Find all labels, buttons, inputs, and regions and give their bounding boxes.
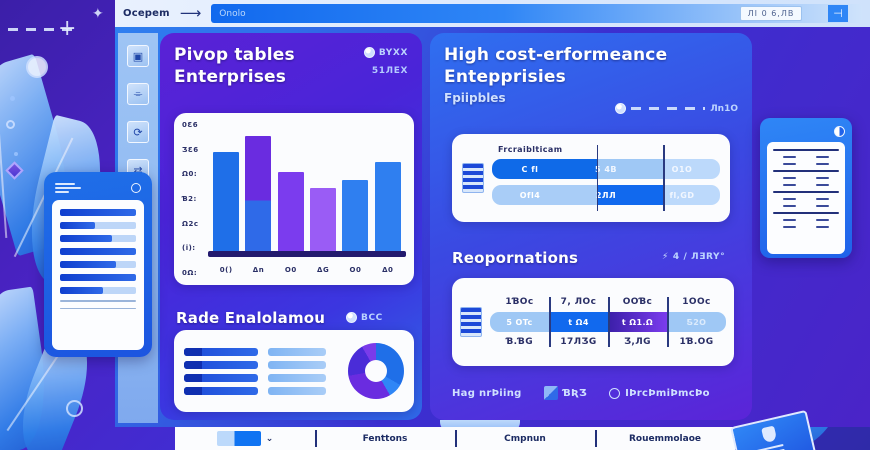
dashboard-illustration: + ✦ ✦ ✦ Ocepem ⟶ Onolo ЛI 0 6,ЛB ⊣ ▣ ⌯ ⟳… — [0, 0, 870, 450]
thumbnail-icon — [217, 431, 261, 446]
bar-chart-card: 0Ɛ6 ƷƐ6 Ω0: Ɓ2: Ω2c (i): 0Ω: 0()ΔnO0ΔGO0… — [174, 113, 414, 285]
x-tick: O0 — [342, 266, 368, 274]
enablement-list-right — [268, 348, 326, 395]
table-cell: 1Ɓ.OG — [667, 337, 726, 347]
tab-recommendations[interactable]: Rouemmolaoe — [595, 427, 735, 450]
reports-title: Reopornations — [452, 249, 578, 267]
panel-right-link-label: Лn1O — [710, 104, 738, 114]
side-table-row — [773, 156, 839, 158]
panel-right-link[interactable]: Лn1O — [615, 103, 738, 114]
y-tick: 0Ω: — [182, 269, 208, 277]
side-table-rule — [773, 212, 839, 214]
table-divider — [667, 297, 669, 347]
reports-badge: ⚡ 4 / ЛƎRY° — [662, 252, 725, 262]
table-divider — [597, 145, 599, 211]
reports-badge-label: 4 / ЛƎRY° — [673, 252, 725, 262]
enablement-badge: BCC — [346, 312, 383, 323]
list-item — [184, 387, 258, 395]
list-item — [184, 348, 258, 356]
bolt-icon: ⚡ — [662, 252, 669, 262]
y-tick: (i): — [182, 244, 208, 252]
side-table-rule — [773, 191, 839, 193]
table-header-cell: 1ƁOc — [490, 297, 549, 307]
document-row — [60, 261, 136, 268]
reports-table: 1ƁOc 7, ЛOc OOƁc 1OOc 5 OTc t Ω4 t Ω1.Ω … — [490, 297, 726, 347]
y-tick: ƷƐ6 — [182, 146, 208, 154]
tab-campaign[interactable]: Cmpnun — [455, 427, 595, 450]
table-cell: t Ω4 — [549, 312, 608, 332]
x-tick: ΔG — [310, 266, 336, 274]
circle-outline-icon — [609, 388, 620, 399]
circle-avatar-icon — [364, 47, 375, 58]
enablement-list-left — [184, 348, 258, 395]
footer-cube-label: ƁƦƷ — [563, 388, 587, 399]
x-axis-line — [208, 251, 406, 257]
table-icon — [462, 163, 484, 193]
x-tick: O0 — [278, 266, 304, 274]
table-cell: 17ЛƷG — [549, 337, 608, 347]
list-item — [184, 361, 258, 369]
badge-primary: BYXX — [379, 48, 408, 58]
bar-chart-bar — [278, 172, 304, 253]
x-axis-labels: 0()ΔnO0ΔGO0Δ0 — [210, 263, 404, 277]
bar-chart-bar — [213, 152, 239, 253]
table-header-cell: 1OOc — [667, 297, 726, 307]
capabilities-table-card: Frcraiblticam C fl 5 4B O1O Ofl4 2ЛЛ fl,… — [452, 134, 730, 222]
table-divider — [549, 297, 551, 347]
url-value: Onolo — [219, 9, 245, 19]
enablement-title: Rade Enalolamou — [176, 309, 325, 327]
list-item — [268, 361, 326, 369]
image-tile-icon[interactable]: ▣ — [127, 45, 149, 67]
table-cell: Ɓ.ƁG — [490, 337, 549, 347]
side-table-row — [773, 205, 839, 207]
side-table-row — [773, 184, 839, 186]
side-table-rule — [773, 170, 839, 172]
url-input[interactable]: Onolo ЛI 0 6,ЛB ⊣ — [211, 4, 862, 23]
table-icon — [460, 307, 482, 337]
document-row — [60, 248, 136, 255]
side-table-card[interactable] — [760, 118, 852, 258]
table-header-cell: 7, ЛOc — [549, 297, 608, 307]
y-tick: Ω0: — [182, 170, 208, 178]
table-cell: Ƽ2O — [667, 312, 726, 332]
side-table-row — [773, 198, 839, 200]
tab-features[interactable]: Fenttons — [315, 427, 455, 450]
document-rule — [60, 300, 136, 302]
panel-right-footer: Hag nrÞiing ƁƦƷ IÞrcÞmiÞmcÞo — [452, 386, 742, 400]
table-row[interactable]: Ofl4 2ЛЛ fl,GD — [492, 185, 720, 205]
badge-secondary: 51ЛEX — [372, 66, 408, 76]
footer-label: Hag nrÞiing — [452, 388, 522, 399]
side-table-sheet — [767, 142, 845, 254]
document-card[interactable] — [44, 172, 152, 357]
bar-chart-plot — [210, 123, 404, 253]
envelope-lines — [744, 444, 786, 450]
x-tick: Δn — [245, 266, 271, 274]
side-table-row — [773, 163, 839, 165]
toolbar-end-button[interactable]: ⊣ — [828, 5, 848, 22]
x-tick: Δ0 — [375, 266, 401, 274]
half-circle-icon — [834, 126, 845, 137]
table-divider — [608, 297, 610, 347]
panel-right-title-1: High cost-erformeance — [444, 45, 738, 67]
shield-icon — [761, 426, 777, 444]
table-cell: O1O — [644, 165, 720, 174]
table-cell: Ʒ,ЛG — [608, 337, 667, 347]
side-table-row — [773, 226, 839, 228]
y-tick: Ω2c — [182, 220, 208, 228]
refresh-icon[interactable]: ⟳ — [127, 121, 149, 143]
table-cell: 5 OTc — [490, 312, 549, 332]
bottom-tab-bar: ⌄ Fenttons Cmpnun Rouemmolaoe — [175, 427, 735, 450]
reports-header: Reopornations — [452, 248, 578, 268]
side-table-row — [773, 177, 839, 179]
menu-lines-icon[interactable] — [55, 183, 81, 193]
enablement-card — [174, 330, 414, 412]
bar-chart-bar — [310, 188, 336, 253]
list-item — [268, 387, 326, 395]
chevron-down-icon[interactable]: ⌄ — [266, 434, 274, 444]
side-table-rule — [773, 149, 839, 151]
filter-funnel-icon[interactable]: ⌯ — [127, 83, 149, 105]
browser-toolbar: Ocepem ⟶ Onolo ЛI 0 6,ЛB ⊣ — [115, 0, 870, 27]
headphone-icon — [615, 103, 626, 114]
list-item — [268, 348, 326, 356]
reports-table-card: 1ƁOc 7, ЛOc OOƁc 1OOc 5 OTc t Ω4 t Ω1.Ω … — [452, 278, 734, 366]
bar-chart-bar — [245, 136, 271, 253]
list-item — [268, 374, 326, 382]
table-cell: t Ω1.Ω — [608, 312, 667, 332]
table-row[interactable]: C fl 5 4B O1O — [492, 159, 720, 179]
y-tick: Ɓ2: — [182, 195, 208, 203]
bar-chart-bar — [375, 162, 401, 253]
tab-thumbnail[interactable]: ⌄ — [175, 427, 315, 450]
bar-chart-bar — [342, 180, 368, 253]
footer-cube-item[interactable]: ƁƦƷ — [544, 386, 587, 400]
document-sheet — [52, 200, 144, 350]
side-card-header — [767, 125, 845, 138]
document-row — [60, 274, 136, 281]
table-divider — [663, 145, 665, 211]
table-cell: Ofl4 — [492, 191, 568, 200]
url-chip: ЛI 0 6,ЛB — [740, 6, 802, 21]
document-row — [60, 209, 136, 216]
circle-outline-icon — [131, 183, 141, 193]
list-item — [184, 374, 258, 382]
footer-circle-label: IÞrcÞmiÞmcÞo — [625, 388, 710, 399]
document-row — [60, 235, 136, 242]
table-cell: fl,GD — [644, 191, 720, 200]
arrow-right-icon[interactable]: ⟶ — [180, 6, 202, 21]
panel-right-title-2: Entepprisies — [444, 67, 738, 89]
enablement-badge-label: BCC — [361, 313, 383, 323]
y-axis-labels: 0Ɛ6 ƷƐ6 Ω0: Ɓ2: Ω2c (i): 0Ω: — [182, 121, 208, 277]
capabilities-table: Frcraiblticam C fl 5 4B O1O Ofl4 2ЛЛ fl,… — [492, 145, 720, 211]
cube-icon — [544, 386, 558, 400]
table-header: Frcraiblticam — [498, 145, 720, 154]
shield-circle-icon — [346, 312, 357, 323]
table-cell: 2ЛЛ — [568, 191, 644, 200]
bar-chart: 0Ɛ6 ƷƐ6 Ω0: Ɓ2: Ω2c (i): 0Ω: 0()ΔnO0ΔGO0… — [174, 113, 414, 285]
footer-circle-item[interactable]: IÞrcÞmiÞmcÞo — [609, 388, 710, 399]
side-table-row — [773, 219, 839, 221]
enablement-header: Rade Enalolamou — [176, 308, 325, 328]
document-rule — [60, 308, 136, 310]
document-row — [60, 222, 136, 229]
document-row — [60, 287, 136, 294]
table-cell: C fl — [492, 165, 568, 174]
document-card-header — [52, 180, 144, 196]
donut-chart-icon — [348, 343, 404, 399]
table-header-cell: OOƁc — [608, 297, 667, 307]
table-cell: 5 4B — [568, 165, 644, 174]
app-label: Ocepem — [123, 8, 170, 19]
y-tick: 0Ɛ6 — [182, 121, 208, 129]
dashed-connector — [631, 107, 705, 110]
panel-left-badges: BYXX 51ЛEX — [364, 47, 408, 76]
x-tick: 0() — [213, 266, 239, 274]
